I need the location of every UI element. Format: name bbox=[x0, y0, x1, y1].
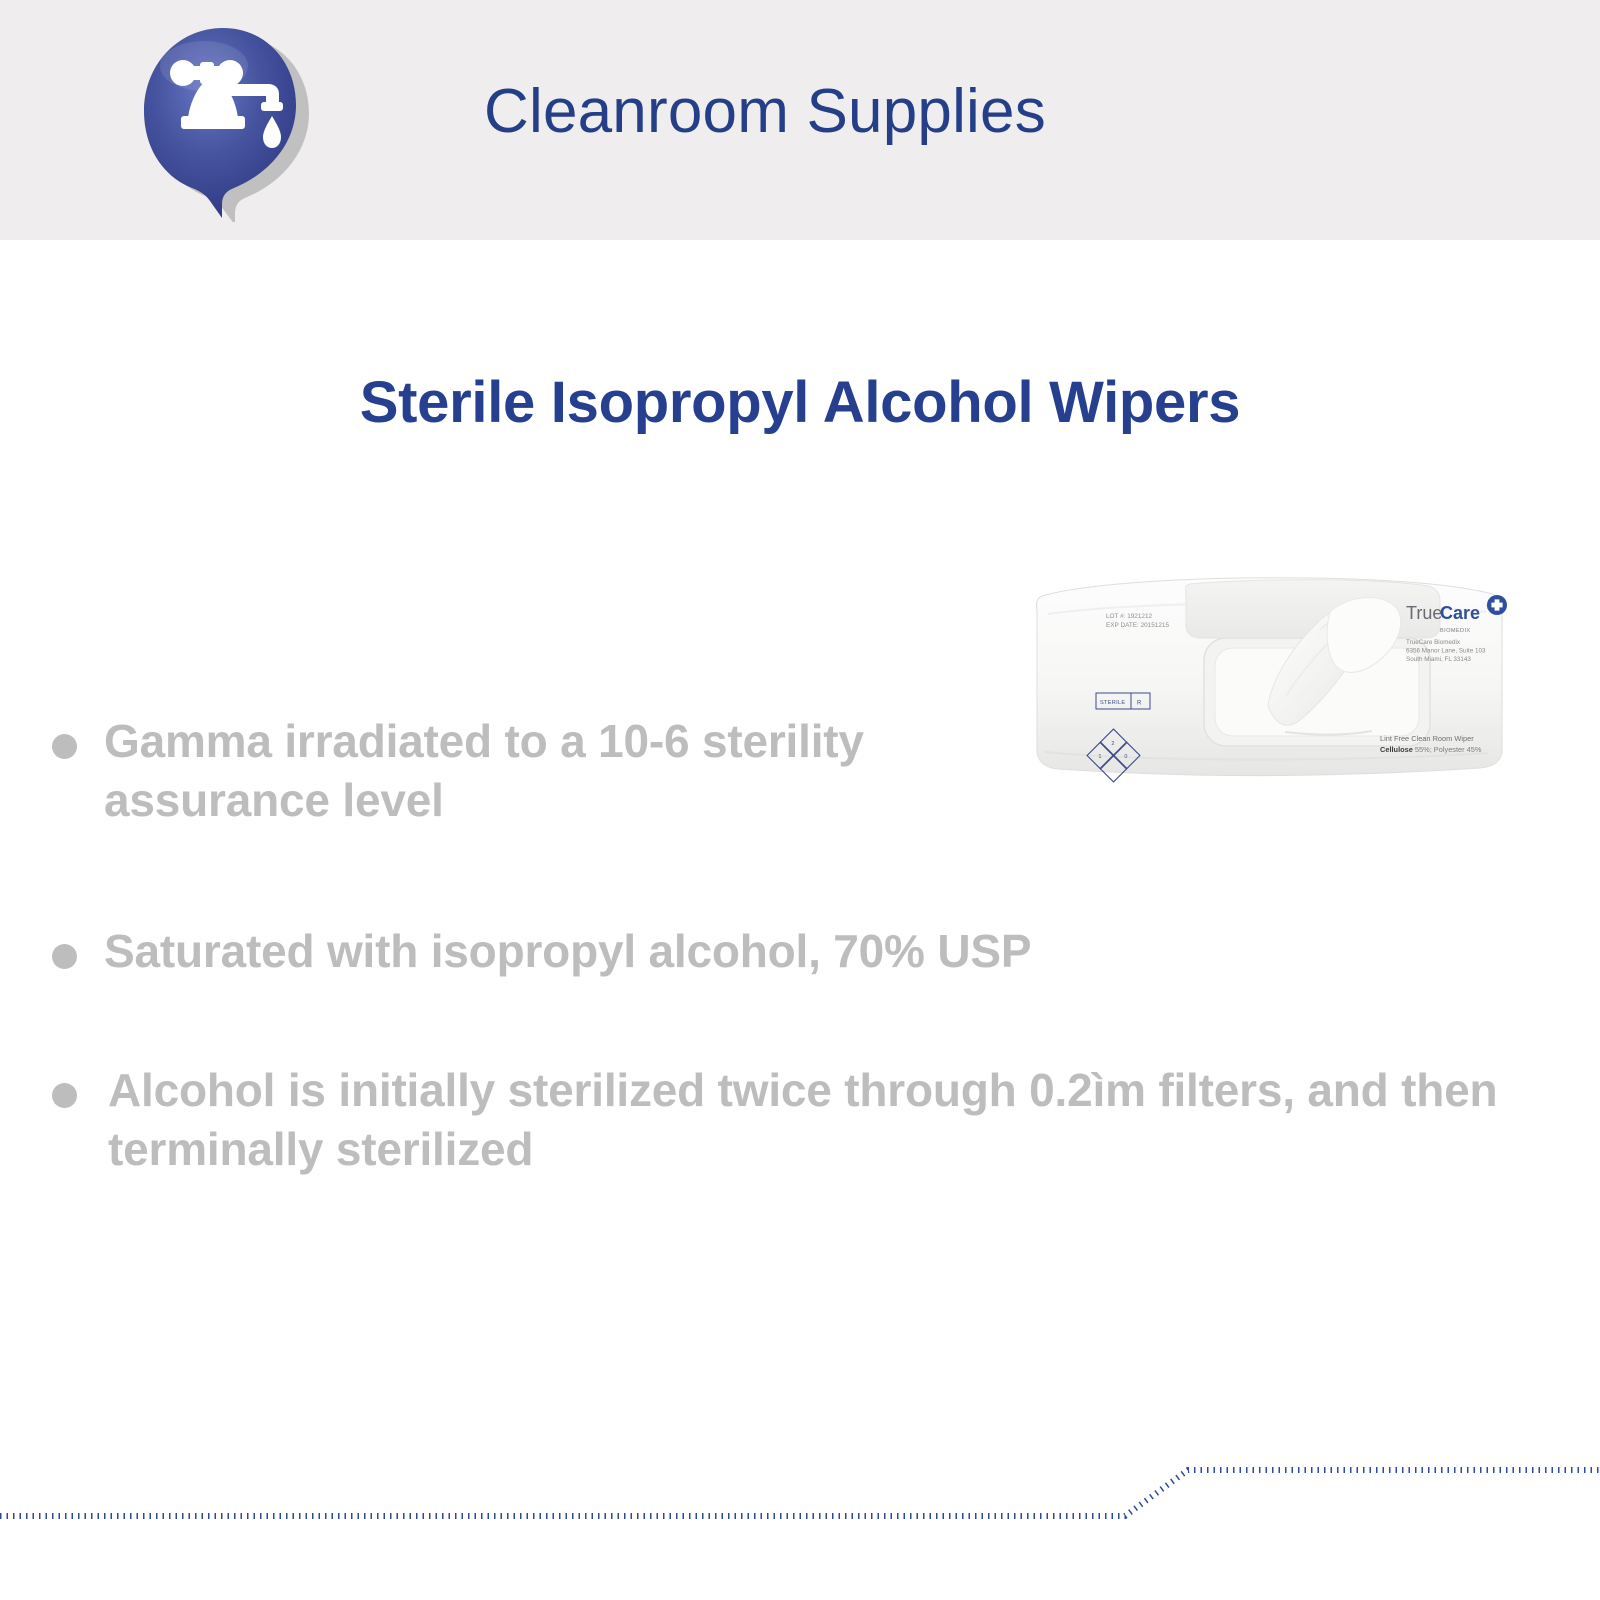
bullet-dot-icon bbox=[52, 944, 77, 969]
brand-title: Cleanroom Supplies bbox=[484, 78, 1046, 146]
medical-cross-icon bbox=[1487, 595, 1507, 615]
bullet-text: Alcohol is initially sterilized twice th… bbox=[108, 1064, 1497, 1175]
bullet-dot-icon bbox=[52, 1083, 77, 1108]
svg-text:TrueCare Biomedix: TrueCare Biomedix bbox=[1406, 639, 1461, 646]
svg-text:BIOMEDIX: BIOMEDIX bbox=[1440, 628, 1471, 634]
svg-text:South Miami, FL 33143: South Miami, FL 33143 bbox=[1406, 656, 1471, 663]
bullet-dot-icon bbox=[52, 734, 77, 759]
svg-text:True: True bbox=[1406, 603, 1442, 623]
list-item: Alcohol is initially sterilized twice th… bbox=[40, 1061, 1600, 1179]
stepped-dotted-divider bbox=[0, 1440, 1600, 1560]
feature-bullet-list: Gamma irradiated to a 10-6 sterility ass… bbox=[40, 712, 1570, 1178]
bullet-text: Gamma irradiated to a 10-6 sterility ass… bbox=[104, 715, 864, 826]
svg-text:STERILE: STERILE bbox=[1100, 700, 1125, 706]
bullet-text: Saturated with isopropyl alcohol, 70% US… bbox=[104, 925, 1031, 977]
svg-text:Care: Care bbox=[1440, 603, 1480, 623]
svg-text:6356 Manor Lane, Suite 103: 6356 Manor Lane, Suite 103 bbox=[1406, 648, 1486, 655]
faucet-drip-speech-bubble-icon bbox=[120, 22, 320, 222]
header-band: Cleanroom Supplies bbox=[0, 0, 1600, 240]
svg-text:LOT #: 1921212: LOT #: 1921212 bbox=[1106, 613, 1153, 620]
svg-text:R: R bbox=[1137, 701, 1142, 707]
list-item: Gamma irradiated to a 10-6 sterility ass… bbox=[40, 712, 884, 830]
page-title: Sterile Isopropyl Alcohol Wipers bbox=[0, 371, 1600, 435]
svg-text:EXP DATE: 20151215: EXP DATE: 20151215 bbox=[1106, 622, 1169, 629]
list-item: Saturated with isopropyl alcohol, 70% US… bbox=[40, 922, 1304, 981]
